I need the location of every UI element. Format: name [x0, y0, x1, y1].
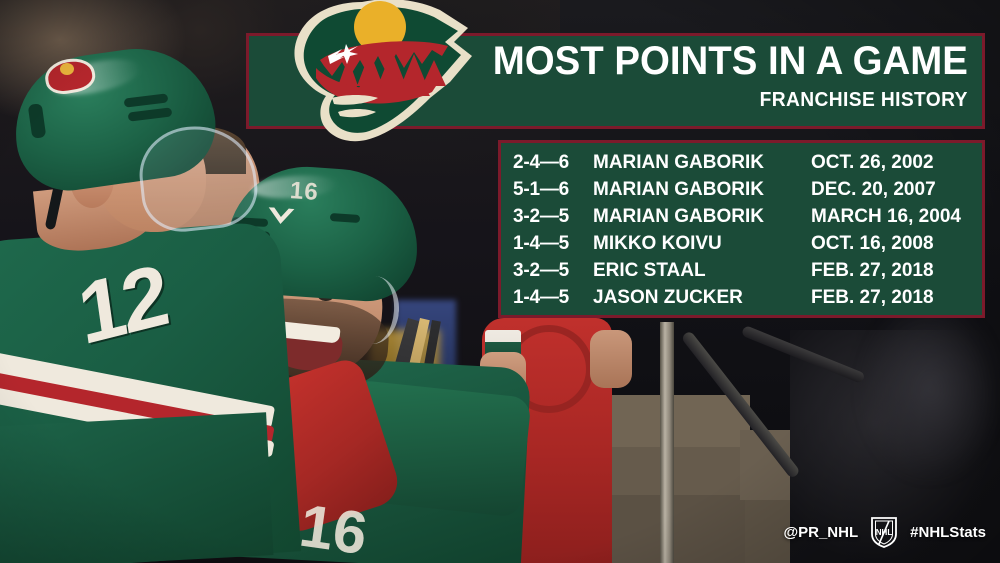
row-stat: 1-4—5 — [513, 234, 593, 253]
row-stat: 2-4—6 — [513, 153, 593, 172]
row-date: DEC. 20, 2007 — [811, 180, 982, 199]
page-title: MOST POINTS IN A GAME — [493, 40, 968, 82]
table-row: 5-1—6 MARIAN GABORIK DEC. 20, 2007 — [501, 176, 982, 203]
table-row: 2-4—6 MARIAN GABORIK OCT. 26, 2002 — [501, 149, 982, 176]
row-date: OCT. 26, 2002 — [811, 153, 982, 172]
hashtag: #NHLStats — [910, 525, 986, 540]
table-row: 1-4—5 MIKKO KOIVU OCT. 16, 2008 — [501, 230, 982, 257]
graphic-canvas: 16 BAUER 16 12 MOST POINTS IN — [0, 0, 1000, 563]
row-player: MARIAN GABORIK — [593, 207, 811, 226]
nhl-shield-text: NHL — [876, 528, 893, 537]
twitter-handle: @PR_NHL — [784, 525, 859, 540]
nhl-shield-logo: NHL — [869, 515, 899, 549]
row-player: MARIAN GABORIK — [593, 153, 811, 172]
row-player: MIKKO KOIVU — [593, 234, 811, 253]
row-date: FEB. 27, 2018 — [811, 261, 982, 280]
footer-credits: @PR_NHL NHL #NHLStats — [784, 515, 987, 549]
table-row: 3-2—5 MARIAN GABORIK MARCH 16, 2004 — [501, 203, 982, 230]
page-subtitle: FRANCHISE HISTORY — [493, 88, 968, 112]
row-stat: 5-1—6 — [513, 180, 593, 199]
table-row: 3-2—5 ERIC STAAL FEB. 27, 2018 — [501, 257, 982, 284]
row-player: JASON ZUCKER — [593, 288, 811, 307]
row-date: MARCH 16, 2004 — [811, 207, 982, 226]
row-date: OCT. 16, 2008 — [811, 234, 982, 253]
row-date: FEB. 27, 2018 — [811, 288, 982, 307]
minnesota-wild-logo — [262, 0, 486, 146]
row-stat: 1-4—5 — [513, 288, 593, 307]
header-text-block: MOST POINTS IN A GAME FRANCHISE HISTORY — [473, 40, 968, 112]
row-player: ERIC STAAL — [593, 261, 811, 280]
row-stat: 3-2—5 — [513, 261, 593, 280]
table-row: 1-4—5 JASON ZUCKER FEB. 27, 2018 — [501, 284, 982, 311]
row-player: MARIAN GABORIK — [593, 180, 811, 199]
row-stat: 3-2—5 — [513, 207, 593, 226]
records-table: 2-4—6 MARIAN GABORIK OCT. 26, 2002 5-1—6… — [498, 140, 985, 318]
